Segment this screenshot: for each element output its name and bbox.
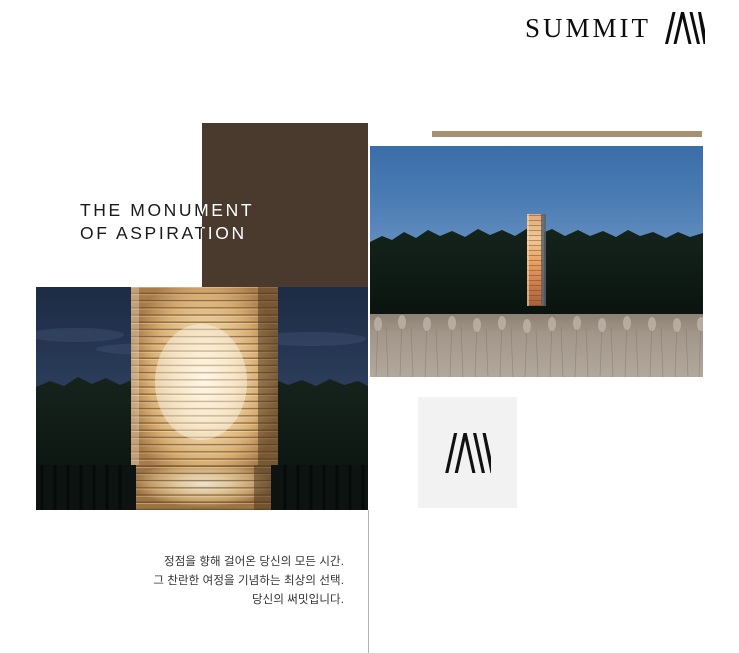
photo-monument-glowing-detail [36,287,368,510]
poster-canvas: SUMMIT [0,0,739,653]
brand-wordmark: SUMMIT [525,15,651,42]
logo-card[interactable] [418,397,517,508]
body-copy-line-2: 그 찬란한 여정을 기념하는 최상의 선택. [44,572,344,591]
photo-monument-at-dusk-wide [370,146,703,377]
brand-header[interactable]: SUMMIT [525,12,705,44]
body-copy-line-3: 당신의 써밋입니다. [44,591,344,610]
vertical-divider [368,510,369,653]
body-copy-line-1: 정점을 향해 걸어온 당신의 모든 시간. [44,553,344,572]
summit-peaks-icon [665,12,705,44]
body-copy: 정점을 향해 걸어온 당신의 모든 시간. 그 찬란한 여정을 기념하는 최상의… [44,553,344,610]
gold-accent-bar [432,131,702,137]
summit-peaks-icon [445,433,491,473]
